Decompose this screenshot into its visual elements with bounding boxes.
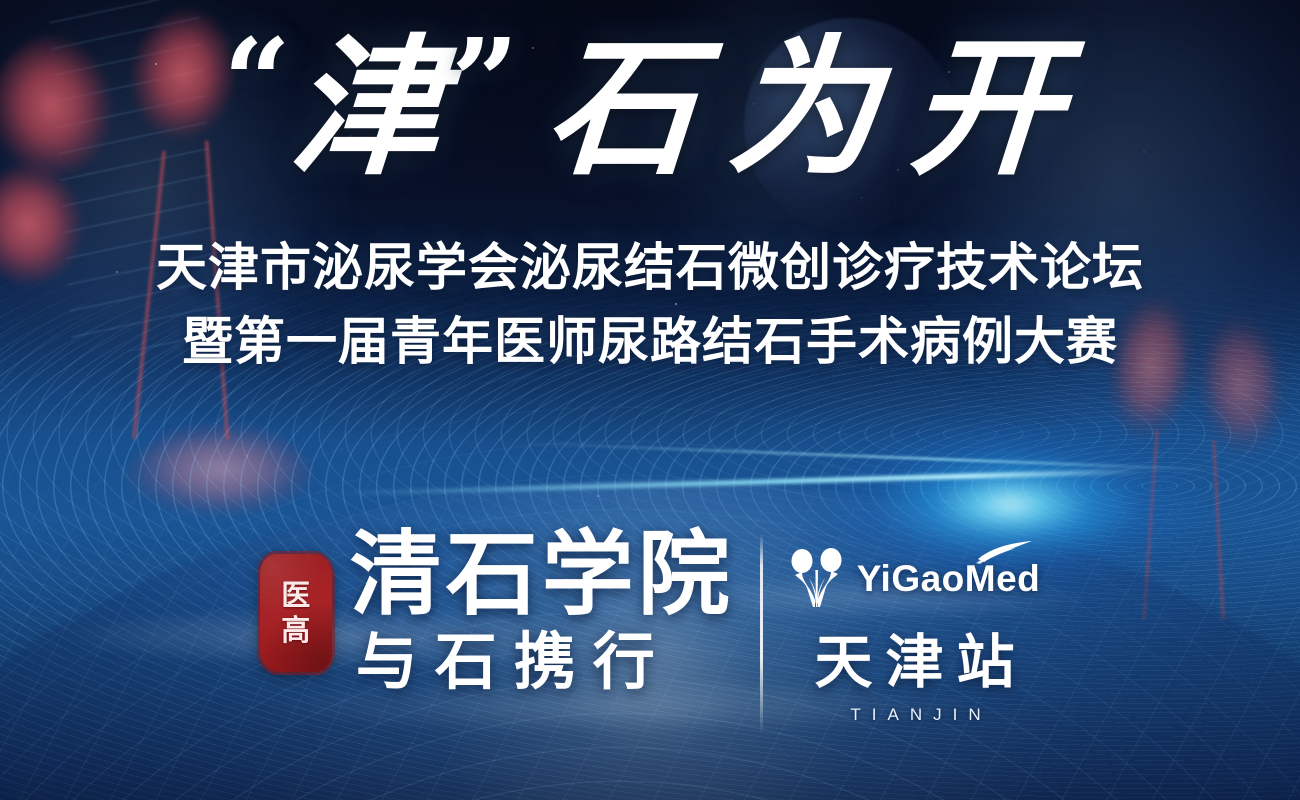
headline-glyph-shi: 石: [526, 33, 719, 183]
swoosh-decoration-icon: [976, 540, 1034, 564]
subtitle-line-1: 天津市泌尿学会泌尿结石微创诊疗技术论坛: [0, 236, 1300, 299]
poster-content: “ 津 ” 石 为 开 天津市泌尿学会泌尿结石微创诊疗技术论坛 暨第一届青年医师…: [0, 0, 1300, 800]
seal-char-gao: 高: [281, 616, 310, 645]
yigaomed-lockup: YiGaoMed: [789, 548, 1041, 608]
station-name-cn: 天津站: [802, 634, 1028, 692]
station-name-en: TIANJIN: [837, 706, 991, 723]
headline-glyph-kai: 开: [890, 33, 1083, 183]
kidney-urinary-logo-icon: [789, 548, 845, 608]
yigaomed-wordmark: YiGaoMed: [857, 558, 1041, 599]
quote-open-mark: “: [223, 23, 285, 141]
yigaomed-wordmark-group: YiGaoMed: [857, 560, 1041, 597]
academy-name: 清石学院: [350, 530, 734, 620]
brand-yigaomed: YiGaoMed 天津站 TIANJIN: [789, 520, 1041, 723]
yigao-seal-stamp: 医 高: [260, 554, 332, 672]
academy-slogan: 与石携行: [350, 630, 734, 695]
logo-row: 医 高 清石学院 与石携行: [0, 520, 1300, 770]
headline-glyph-wei: 为: [708, 33, 901, 183]
academy-wordblock: 清石学院 与石携行: [350, 530, 734, 695]
seal-char-yi: 医: [281, 581, 310, 610]
conference-poster: “ 津 ” 石 为 开 天津市泌尿学会泌尿结石微创诊疗技术论坛 暨第一届青年医师…: [0, 0, 1300, 800]
headline-glyph-jin: 津: [282, 33, 451, 183]
subtitle-block: 天津市泌尿学会泌尿结石微创诊疗技术论坛 暨第一届青年医师尿路结石手术病例大赛: [0, 236, 1300, 373]
quote-close-mark: ”: [451, 23, 513, 141]
subtitle-line-2: 暨第一届青年医师尿路结石手术病例大赛: [0, 310, 1300, 373]
vertical-divider: [760, 534, 763, 734]
brand-qingshi-academy: 医 高 清石学院 与石携行: [260, 520, 734, 695]
headline-calligraphy: “ 津 ” 石 为 开: [0, 8, 1300, 208]
